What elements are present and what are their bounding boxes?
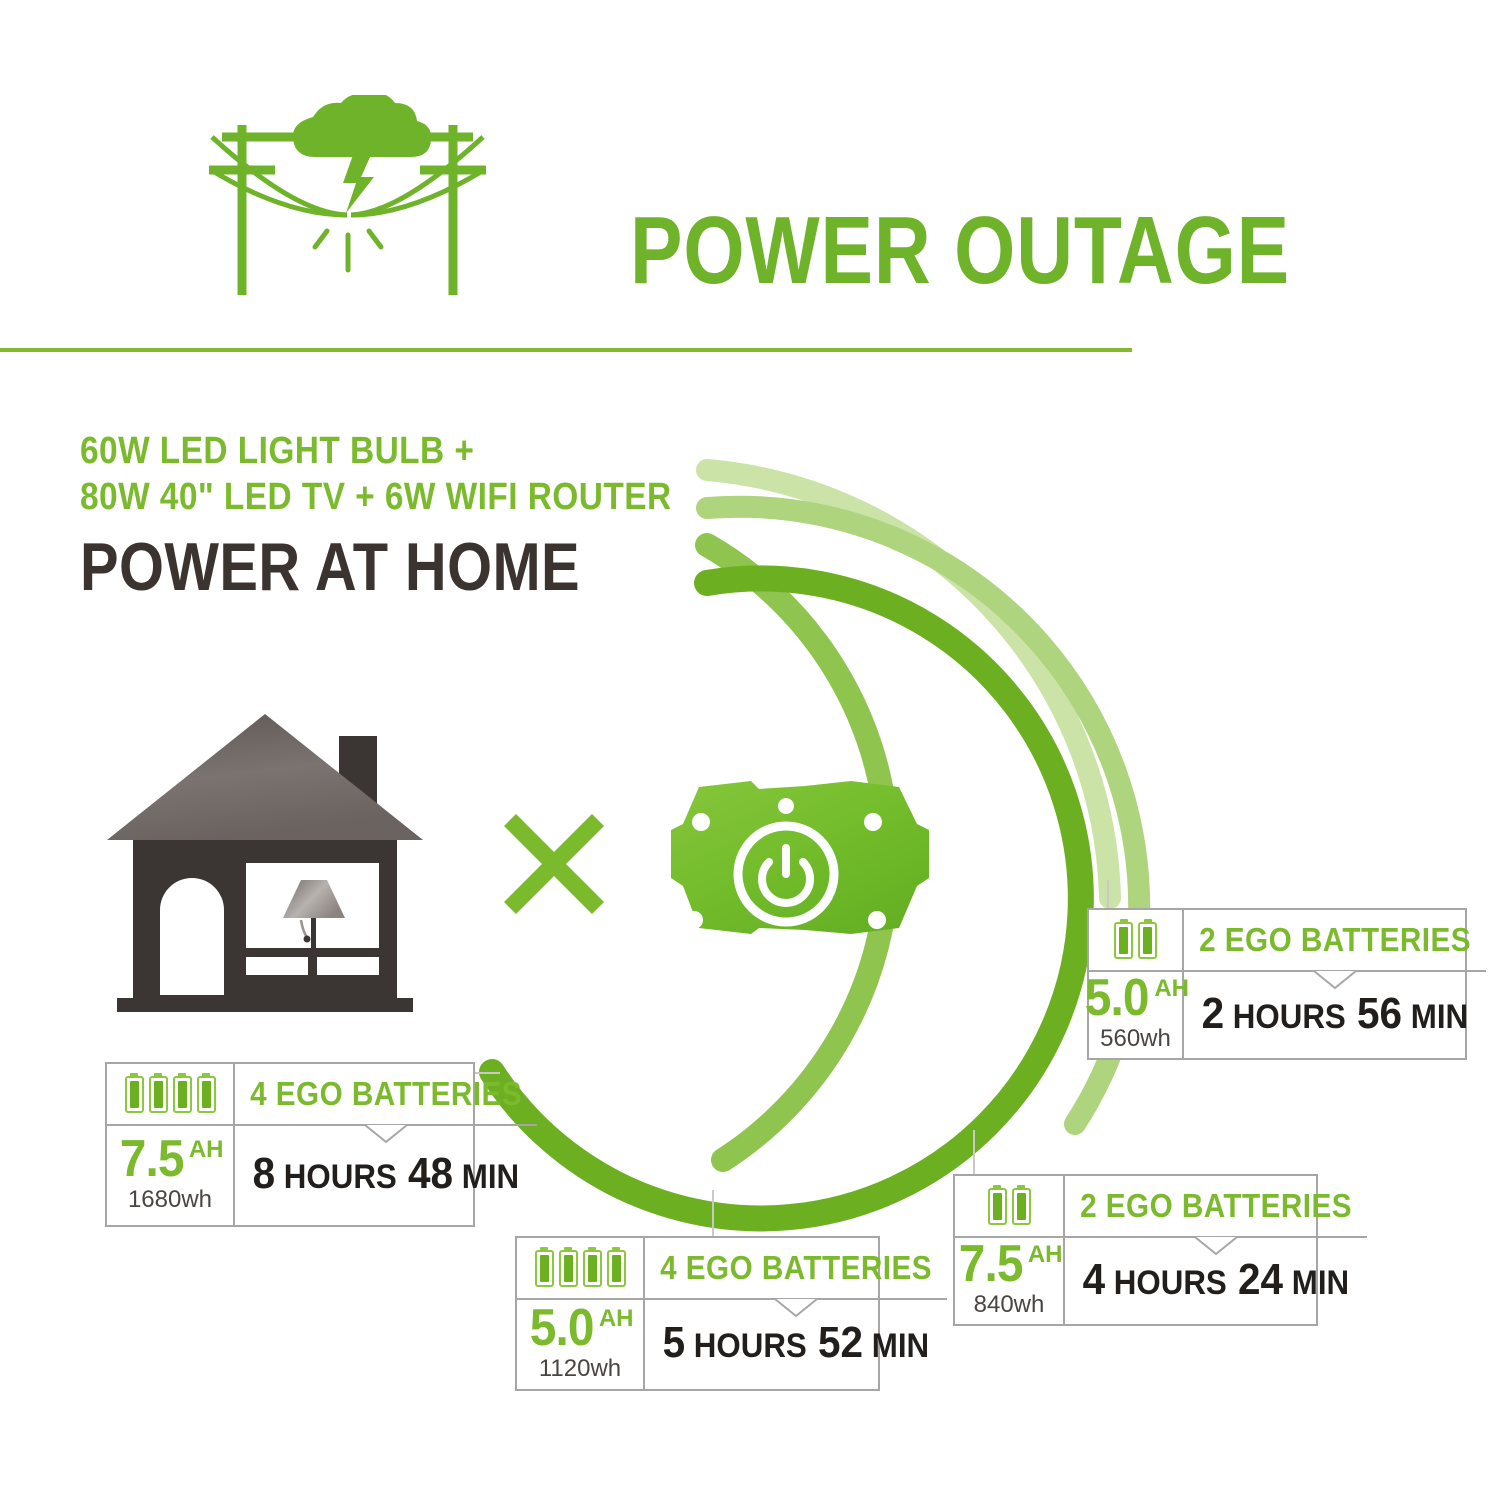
wh-value: 1120wh [539, 1355, 621, 1383]
battery-icon [559, 1250, 578, 1287]
wh-value: 840wh [974, 1291, 1045, 1319]
runtime-minutes-unit: MIN [872, 1327, 929, 1365]
ah-value: 5.0 [1085, 975, 1149, 1021]
appliance-list: 60W LED LIGHT BULB + 80W 40" LED TV + 6W… [80, 428, 672, 520]
connector-card-bottom-right [973, 1130, 975, 1175]
device-screw-bl [685, 911, 703, 929]
runtime-hours: 8 [253, 1149, 276, 1198]
section-heading: POWER AT HOME [80, 527, 580, 607]
runtime-minutes: 56 [1357, 989, 1402, 1038]
power-line-storm-icon [175, 95, 520, 300]
battery-card[interactable]: 4 EGO BATTERIES 7.5 AH 1680wh 8 HOURS 48… [105, 1062, 475, 1227]
runtime-cell: 2 HOURS 56 MIN [1184, 972, 1486, 1058]
runtime-minutes: 24 [1238, 1255, 1283, 1304]
battery-card[interactable]: 4 EGO BATTERIES 5.0 AH 1120wh 5 HOURS 52… [515, 1236, 880, 1391]
runtime-hours: 4 [1083, 1255, 1106, 1304]
battery-icon [149, 1076, 168, 1113]
page-title: POWER OUTAGE [630, 196, 1089, 306]
runtime-minutes-unit: MIN [1411, 998, 1468, 1036]
battery-card[interactable]: 2 EGO BATTERIES 5.0 AH 560wh 2 HOURS 56 … [1087, 908, 1467, 1060]
appliance-line-1: 60W LED LIGHT BULB + [80, 428, 672, 474]
battery-icon [173, 1076, 192, 1113]
battery-icon-group [107, 1064, 235, 1126]
battery-count-label: 4 EGO BATTERIES [645, 1238, 947, 1300]
runtime-minutes: 48 [408, 1149, 453, 1198]
ah-value: 7.5 [119, 1136, 183, 1182]
runtime-minutes-unit: MIN [1292, 1264, 1349, 1302]
capacity-cell: 7.5 AH 840wh [955, 1238, 1065, 1324]
battery-icon-group [517, 1238, 645, 1300]
capacity-cell: 5.0 AH 1120wh [517, 1300, 645, 1389]
runtime-minutes: 52 [818, 1318, 863, 1367]
notch-icon [365, 1124, 407, 1144]
device-screw-br [868, 911, 886, 929]
connector-card-top-right [1107, 880, 1109, 910]
notch-icon [775, 1298, 817, 1318]
notch-icon [1195, 1236, 1237, 1256]
battery-icon-group [1089, 910, 1184, 972]
runtime-hours: 5 [663, 1318, 686, 1367]
battery-icon [1012, 1188, 1031, 1225]
infographic-page: POWER OUTAGE 60W LED LIGHT BULB + 80W 40… [0, 0, 1500, 1500]
ah-value: 7.5 [958, 1241, 1022, 1287]
power-station-icon [655, 762, 945, 952]
battery-icon [583, 1250, 602, 1287]
device-screw-tr [864, 813, 882, 831]
capacity-cell: 7.5 AH 1680wh [107, 1126, 235, 1225]
battery-icon [535, 1250, 554, 1287]
house-with-lamp-icon [105, 700, 425, 1020]
battery-icon [125, 1076, 144, 1113]
wh-value: 1680wh [128, 1186, 212, 1214]
battery-count-label: 2 EGO BATTERIES [1065, 1176, 1367, 1238]
multiply-x-icon [498, 808, 610, 920]
device-screw-tl [692, 813, 710, 831]
ah-unit: AH [1028, 1243, 1063, 1267]
ah-unit: AH [189, 1138, 224, 1162]
runtime-cell: 8 HOURS 48 MIN [235, 1126, 537, 1225]
battery-icon [988, 1188, 1007, 1225]
battery-count-label: 2 EGO BATTERIES [1184, 910, 1486, 972]
battery-icon [197, 1076, 216, 1113]
runtime-minutes-unit: MIN [462, 1158, 519, 1196]
runtime-cell: 4 HOURS 24 MIN [1065, 1238, 1367, 1324]
device-led [778, 798, 794, 814]
battery-icon [607, 1250, 626, 1287]
notch-icon [1314, 970, 1356, 990]
runtime-hours: 2 [1202, 989, 1225, 1038]
ah-value: 5.0 [529, 1305, 593, 1351]
runtime-cell: 5 HOURS 52 MIN [645, 1300, 947, 1389]
connector-card-bottom-center [712, 1190, 714, 1237]
appliance-line-2: 80W 40" LED TV + 6W WIFI ROUTER [80, 474, 672, 520]
battery-icon [1138, 922, 1157, 959]
runtime-hours-unit: HOURS [1114, 1264, 1227, 1302]
battery-count-label: 4 EGO BATTERIES [235, 1064, 537, 1126]
battery-icon [1114, 922, 1133, 959]
runtime-hours-unit: HOURS [1233, 998, 1346, 1036]
header-divider [0, 348, 1132, 352]
capacity-cell: 5.0 AH 560wh [1089, 972, 1184, 1058]
battery-icon-group [955, 1176, 1065, 1238]
runtime-hours-unit: HOURS [694, 1327, 807, 1365]
device-body [671, 781, 929, 934]
wh-value: 560wh [1100, 1025, 1171, 1053]
ah-unit: AH [599, 1307, 634, 1331]
runtime-hours-unit: HOURS [284, 1158, 397, 1196]
battery-card[interactable]: 2 EGO BATTERIES 7.5 AH 840wh 4 HOURS 24 … [953, 1174, 1318, 1326]
